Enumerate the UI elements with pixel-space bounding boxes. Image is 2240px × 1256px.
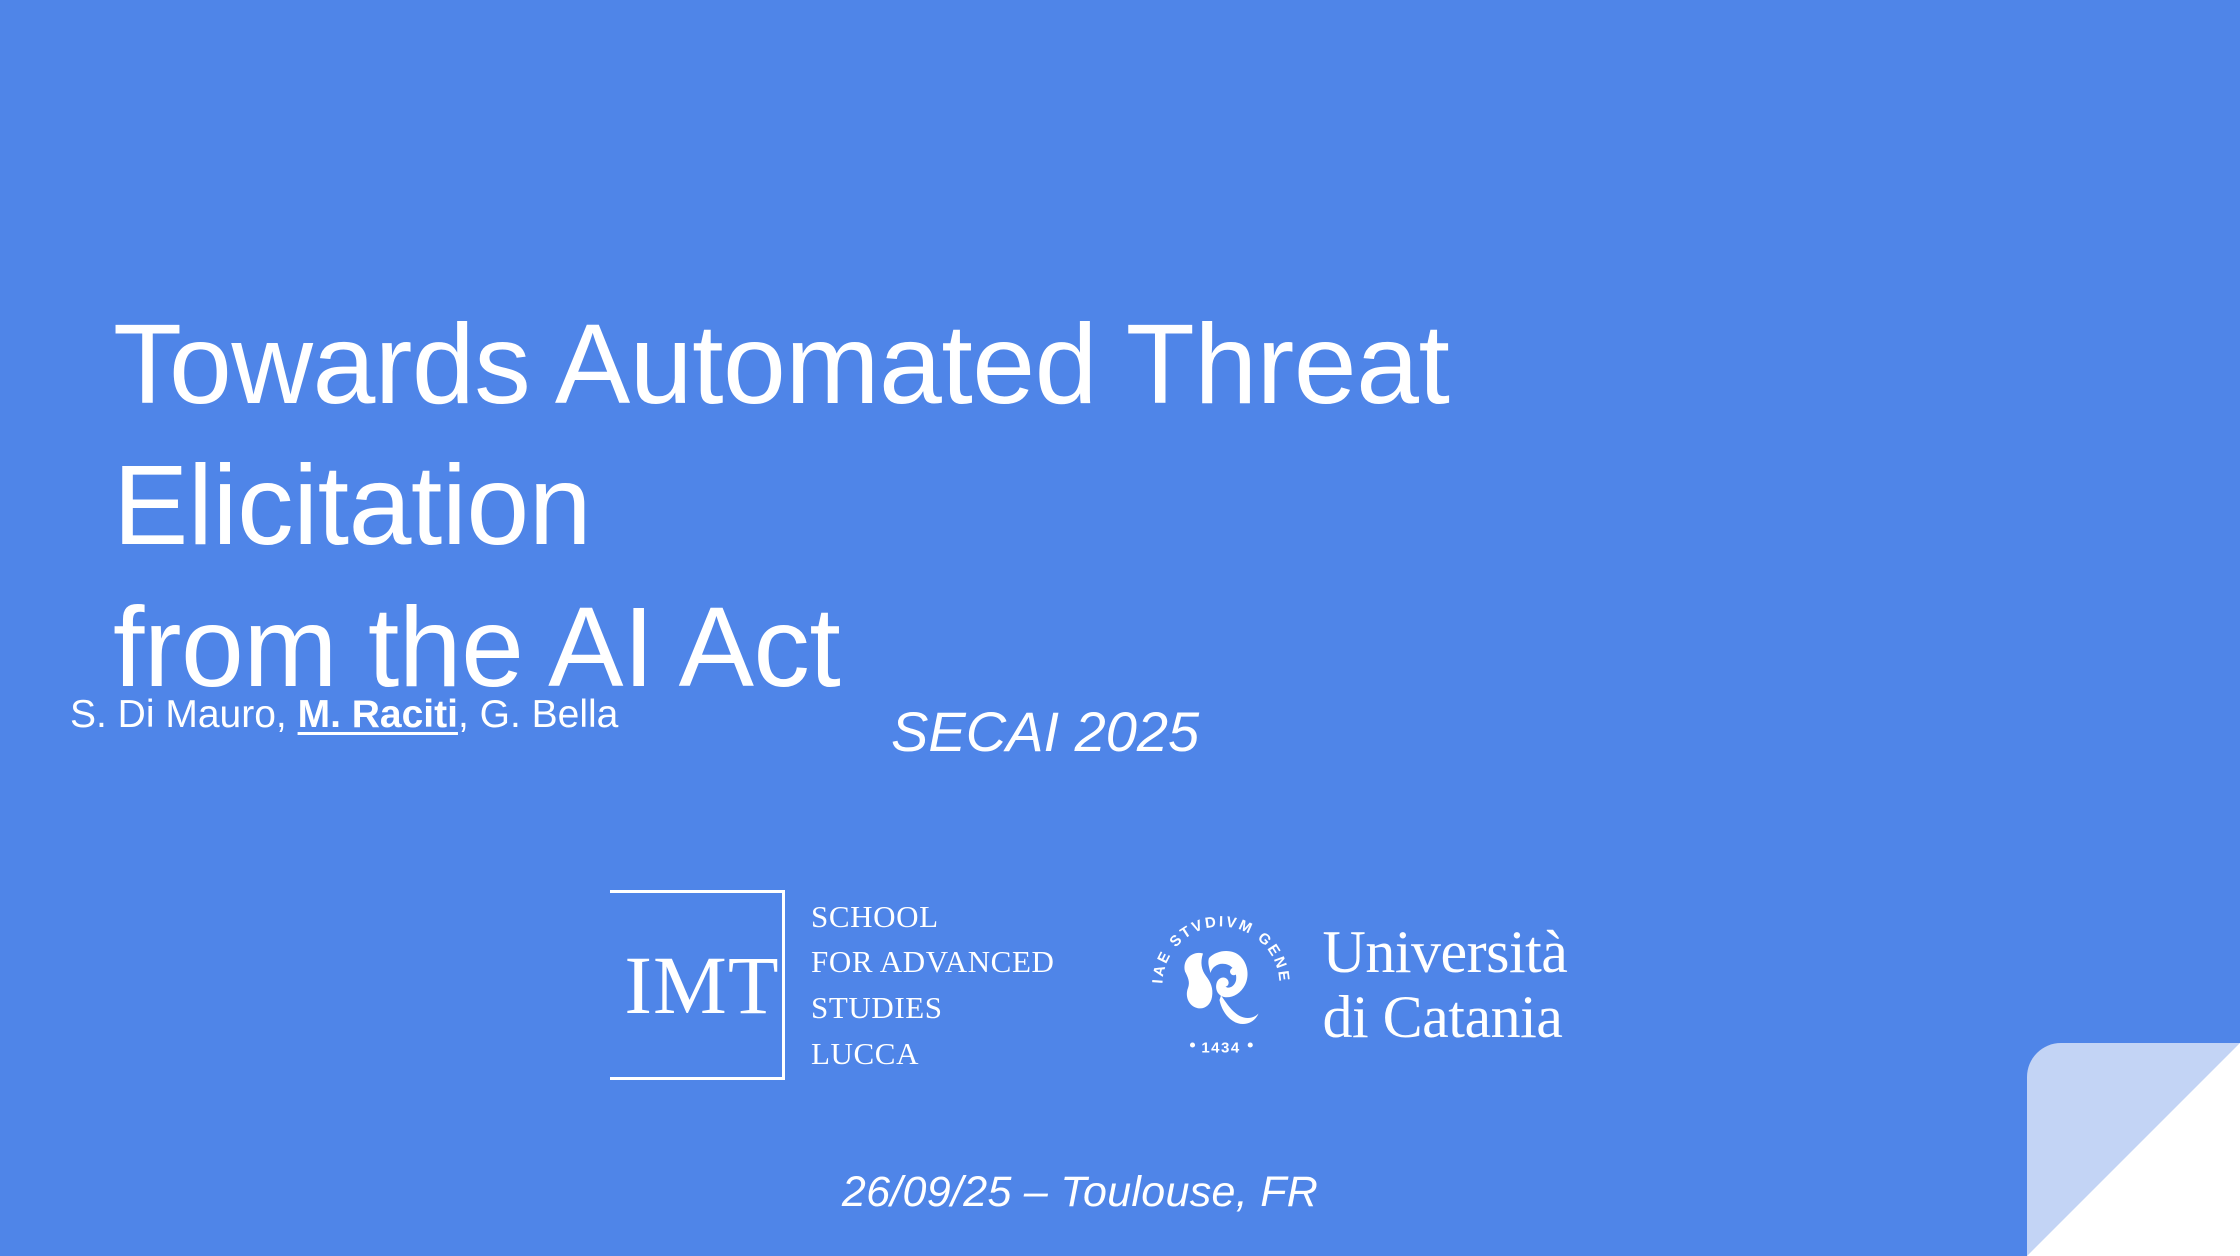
corner-decoration-shape [2027,1043,2240,1256]
university-of-catania-logo: SICILIAE STVDIVM GENERALE 1434 Universit… [1146,910,1567,1060]
imt-school-logo: IMT SCHOOL FOR ADVANCED STUDIES LUCCA [610,890,1054,1080]
imt-wordmark-line-1: SCHOOL [811,894,1054,940]
author-list-suffix: , G. Bella [458,693,618,736]
imt-wordmark-line-3: STUDIES [811,985,1054,1031]
presenting-author: M. Raciti [298,693,458,736]
title-block: Towards Automated Threat Elicitation fro… [113,294,1913,718]
svg-text:SICILIAE STVDIVM GENERALE: SICILIAE STVDIVM GENERALE [1146,910,1293,984]
page-title: Towards Automated Threat Elicitation fro… [113,294,1913,718]
author-list-prefix: S. Di Mauro, [70,693,298,736]
imt-wordmark-line-4: LUCCA [811,1031,1054,1077]
catania-wordmark-line-1: Università [1322,920,1567,985]
svg-text:1434: 1434 [1202,1040,1241,1057]
corner-decoration-wedge [2027,1043,2240,1256]
catania-wordmark: Università di Catania [1322,920,1567,1050]
catania-seal-icon: SICILIAE STVDIVM GENERALE 1434 [1146,910,1296,1060]
imt-monogram-letters: IMT [624,944,779,1027]
imt-wordmark-line-2: FOR ADVANCED [811,939,1054,985]
title-slide: Towards Automated Threat Elicitation fro… [0,0,2240,1256]
authors-line: S. Di Mauro, M. Raciti, G. Bella [70,692,618,739]
imt-wordmark: SCHOOL FOR ADVANCED STUDIES LUCCA [811,890,1054,1080]
venue-name: SECAI 2025 [891,698,1199,765]
event-date-location: 26/09/25 – Toulouse, FR [0,1168,2200,1217]
imt-monogram-icon: IMT [610,890,785,1080]
logo-row: IMT SCHOOL FOR ADVANCED STUDIES LUCCA SI… [610,890,1567,1080]
catania-wordmark-line-2: di Catania [1322,985,1567,1050]
